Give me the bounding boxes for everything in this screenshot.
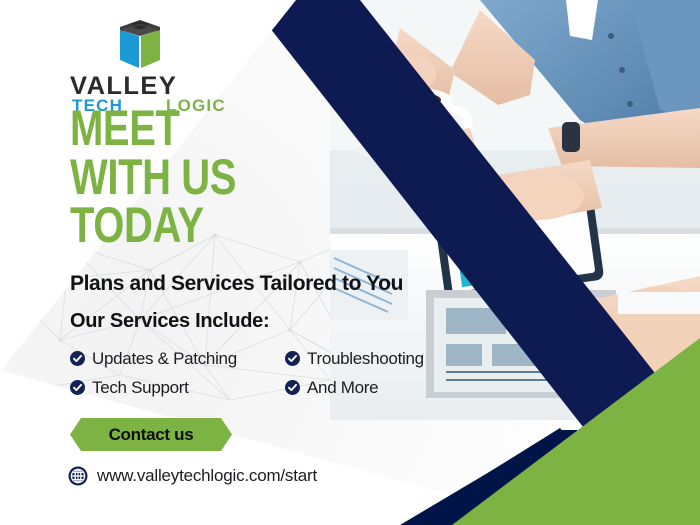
contact-us-button[interactable]: Contact us xyxy=(70,418,232,451)
service-label: Updates & Patching xyxy=(92,349,237,369)
check-circle-icon xyxy=(285,351,300,366)
headline: MEET WITH US TODAY xyxy=(70,104,236,250)
service-label: Troubleshooting xyxy=(307,349,424,369)
headline-line-2: WITH US xyxy=(70,153,236,202)
promo-banner: VALLEY TECH LOGIC MEET WITH US TODAY Pla… xyxy=(0,0,700,525)
headline-line-1: MEET xyxy=(70,104,236,153)
contact-us-label: Contact us xyxy=(109,425,194,445)
headline-line-3: TODAY xyxy=(70,201,236,250)
website-url-text: www.valleytechlogic.com/start xyxy=(97,466,317,486)
service-item: Troubleshooting xyxy=(285,344,470,373)
globe-icon xyxy=(68,466,88,486)
tagline: Plans and Services Tailored to You xyxy=(70,272,403,296)
service-label: And More xyxy=(307,378,378,398)
service-item: Updates & Patching xyxy=(70,344,285,373)
website-url-row[interactable]: www.valleytechlogic.com/start xyxy=(68,466,317,486)
services-list: Updates & Patching Troubleshooting Tech … xyxy=(70,344,470,402)
check-circle-icon xyxy=(285,380,300,395)
valley-techlogic-cube-icon xyxy=(116,18,164,70)
service-item: And More xyxy=(285,373,470,402)
check-circle-icon xyxy=(70,380,85,395)
check-circle-icon xyxy=(70,351,85,366)
services-title: Our Services Include: xyxy=(70,310,269,333)
service-label: Tech Support xyxy=(92,378,189,398)
service-item: Tech Support xyxy=(70,373,285,402)
